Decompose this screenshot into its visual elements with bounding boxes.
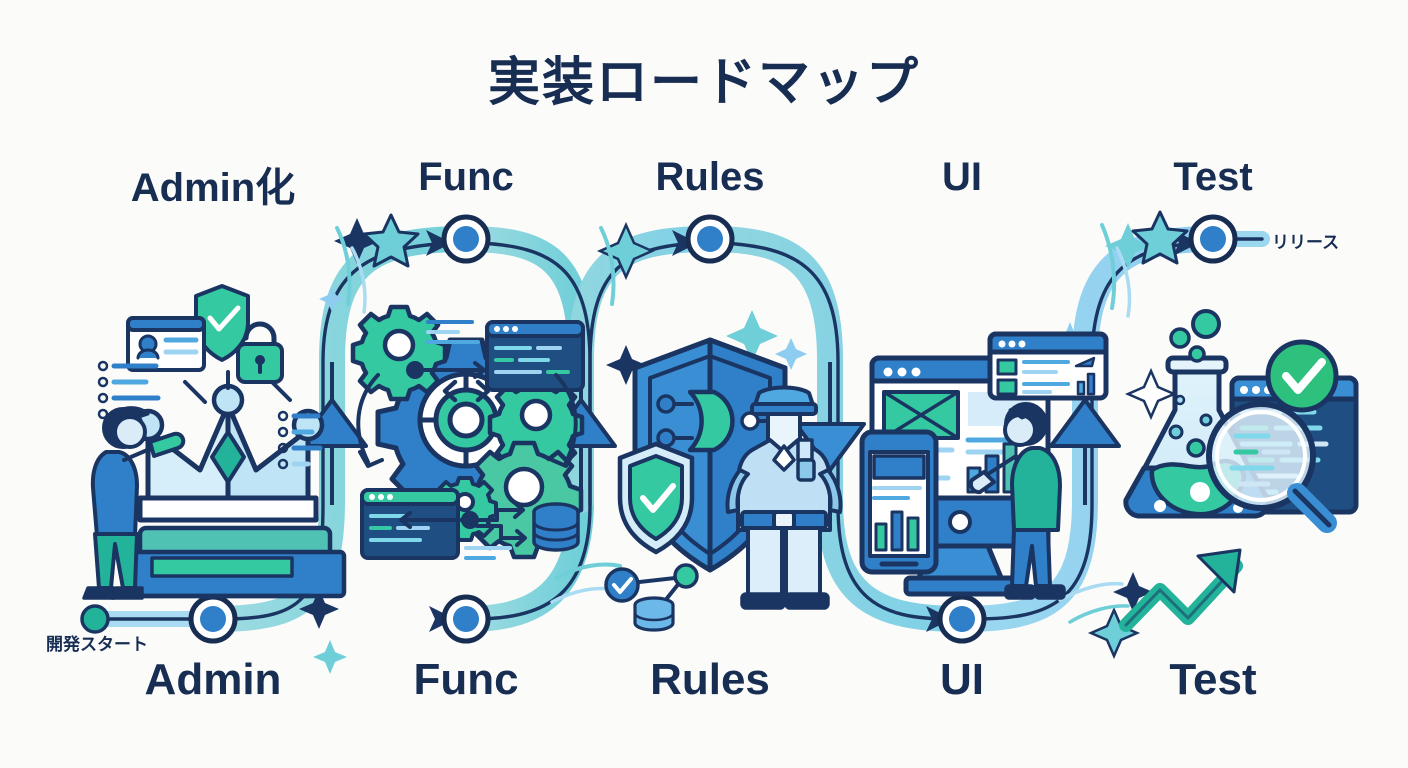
roadmap-infographic: 実装ロードマップ Admin化 Func Rules UI Test Admin… <box>0 0 1408 768</box>
stage-top-label-test: Test <box>1113 155 1313 200</box>
database-icon <box>534 504 578 550</box>
stage-bottom-label-admin: Admin <box>113 655 313 705</box>
code-window-icon <box>362 490 458 558</box>
stage-top-label-func: Func <box>366 155 566 200</box>
shield-guard-icon <box>620 340 841 608</box>
stage-top-label-rules: Rules <box>610 155 810 200</box>
stage-top-label-admin: Admin化 <box>93 155 333 213</box>
gears-icon <box>353 307 583 558</box>
stage-bottom-label-test: Test <box>1113 655 1313 705</box>
page-title: 実装ロードマップ <box>0 40 1408 115</box>
code-window-icon <box>487 322 583 390</box>
screens-icon <box>862 334 1106 598</box>
release-label: リリース <box>1272 228 1339 253</box>
stage-bottom-label-func: Func <box>366 655 566 705</box>
stage-bottom-label-rules: Rules <box>610 655 810 705</box>
stage-top-label-ui: UI <box>862 155 1062 200</box>
stage-bottom-label-ui: UI <box>862 655 1062 705</box>
flask-test-icon <box>1126 311 1356 525</box>
illustration-layer <box>0 0 1408 768</box>
start-label: 開発スタート <box>46 630 148 655</box>
crown-admin-icon <box>84 286 344 598</box>
